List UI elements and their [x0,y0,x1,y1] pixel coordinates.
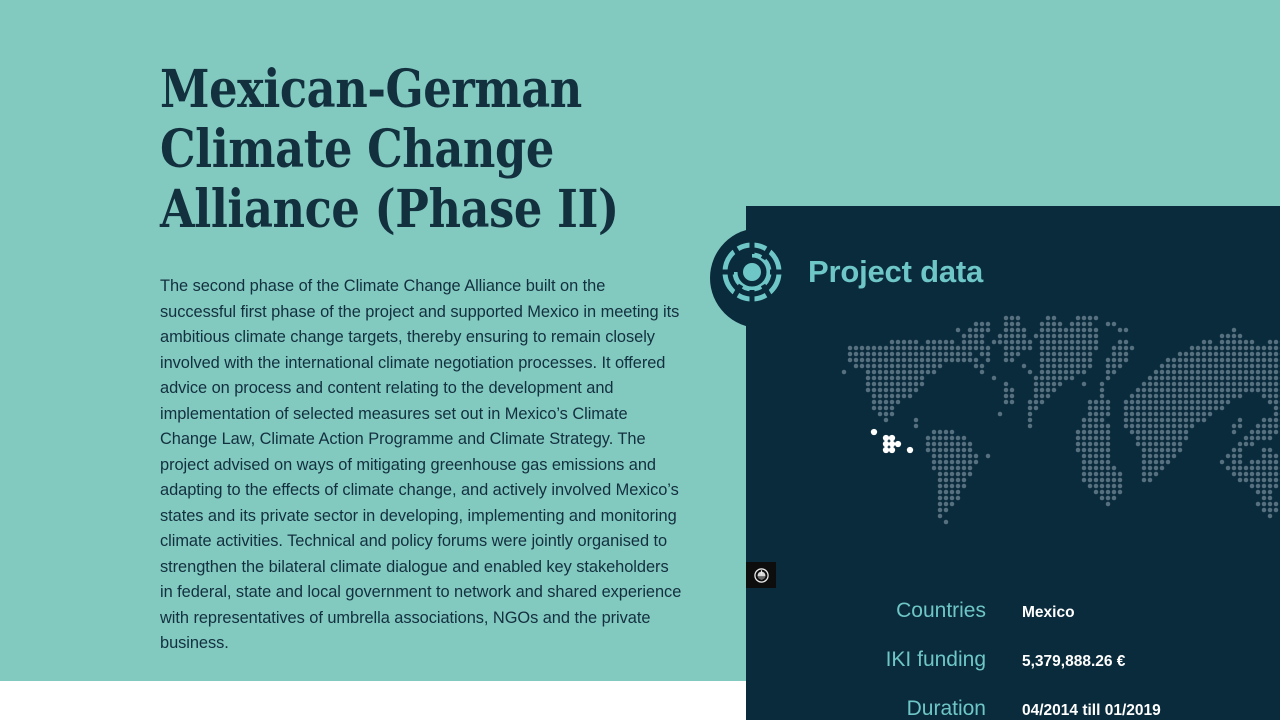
world-dot-map-svg [782,310,1280,606]
row-value-countries: Mexico [1022,600,1280,626]
table-row: IKI funding 5,379,888.26 € [746,647,1280,696]
row-value-iki-funding: 5,379,888.26 € [1022,649,1280,675]
row-label-countries: Countries [746,598,1022,624]
table-row: Duration 04/2014 till 01/2019 [746,696,1280,720]
article-column: Mexican-German Climate Change Alliance (… [160,60,685,657]
page-title: Mexican-German Climate Change Alliance (… [160,60,684,240]
row-value-duration: 04/2014 till 01/2019 [1022,698,1280,720]
globe-badge-icon [754,568,769,583]
page-root: Mexican-German Climate Change Alliance (… [0,0,1280,720]
concentric-rings-icon [718,238,786,306]
table-row: Countries Mexico [746,598,1280,647]
map-attribution-badge[interactable] [746,562,776,588]
article-body-text: The second phase of the Climate Change A… [160,240,685,657]
row-label-duration: Duration [746,696,1022,720]
world-map [746,310,1280,606]
row-label-iki-funding: IKI funding [746,647,1022,673]
panel-title: Project data [808,255,983,289]
project-data-rows: Countries Mexico IKI funding 5,379,888.2… [746,598,1280,720]
project-data-header: Project data [718,238,983,306]
